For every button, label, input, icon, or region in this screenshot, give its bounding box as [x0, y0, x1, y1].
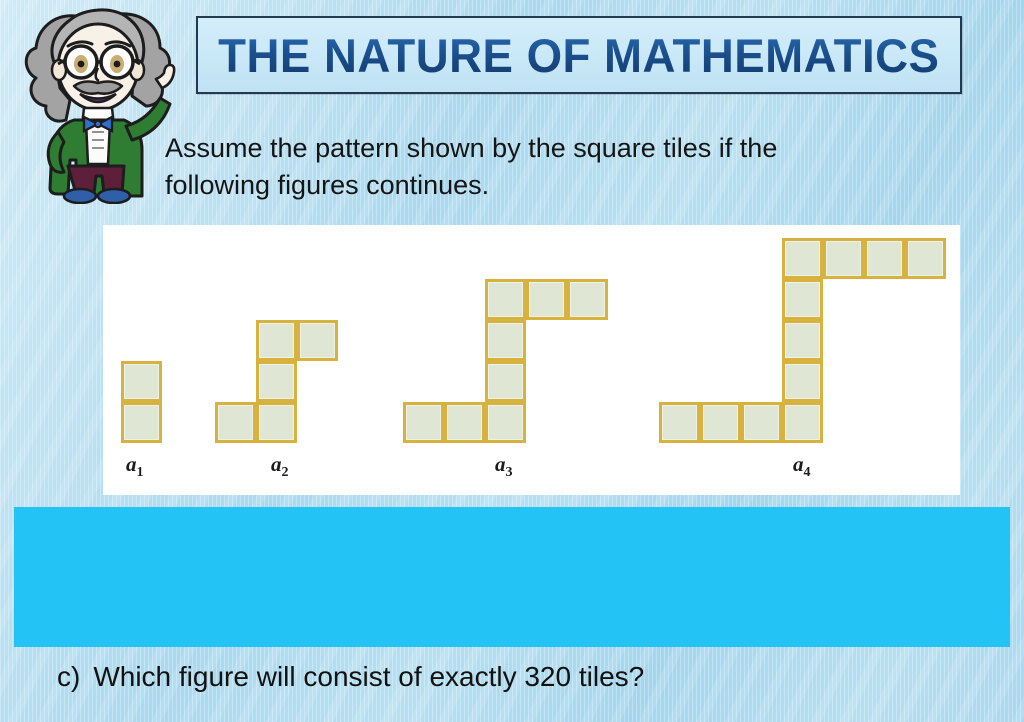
tile	[121, 402, 162, 443]
title-box: THE NATURE OF MATHEMATICS	[196, 16, 962, 94]
tile	[905, 238, 946, 279]
question-c: c)Which figure will consist of exactly 3…	[57, 661, 644, 693]
tile	[659, 402, 700, 443]
tile	[256, 361, 297, 402]
tile	[444, 402, 485, 443]
figure-a3	[403, 279, 608, 443]
tile	[256, 402, 297, 443]
tile	[782, 402, 823, 443]
figure-label-letter: a	[793, 452, 804, 476]
question-letter: c)	[57, 661, 80, 692]
figure-label-letter: a	[495, 452, 506, 476]
figure-label-index: 2	[282, 465, 289, 480]
tile	[782, 279, 823, 320]
figure-label-index: 1	[137, 465, 144, 480]
figure-label-a4: a4	[793, 452, 811, 481]
prompt-line-1: Assume the pattern shown by the square t…	[165, 130, 985, 167]
tile	[782, 238, 823, 279]
prompt-text: Assume the pattern shown by the square t…	[165, 130, 985, 205]
page-title: THE NATURE OF MATHEMATICS	[218, 32, 939, 79]
figure-a1	[121, 361, 162, 443]
tile	[485, 279, 526, 320]
tile	[485, 402, 526, 443]
tile	[700, 402, 741, 443]
tile	[782, 361, 823, 402]
tile	[823, 238, 864, 279]
slide-canvas: THE NATURE OF MATHEMATICS Assume the pat…	[0, 0, 1024, 722]
tile	[256, 320, 297, 361]
figure-label-a3: a3	[495, 452, 513, 481]
tile	[485, 320, 526, 361]
figure-label-letter: a	[126, 452, 137, 476]
figure-label-letter: a	[271, 452, 282, 476]
tile	[864, 238, 905, 279]
einstein-cartoon-icon	[14, 4, 182, 204]
tile	[485, 361, 526, 402]
tile	[782, 320, 823, 361]
figure-label-a1: a1	[126, 452, 144, 481]
figure-label-index: 4	[804, 465, 811, 480]
tile	[567, 279, 608, 320]
tile	[741, 402, 782, 443]
tile	[215, 402, 256, 443]
prompt-line-2: following figures continues.	[165, 167, 985, 204]
tile	[526, 279, 567, 320]
figure-a2	[215, 320, 338, 443]
tile	[121, 361, 162, 402]
figure-a4	[659, 238, 946, 443]
figure-panel: a1 a2 a3	[103, 225, 960, 495]
figure-label-index: 3	[506, 465, 513, 480]
answer-box[interactable]	[14, 507, 1010, 647]
question-text: Which figure will consist of exactly 320…	[93, 661, 644, 692]
tile	[403, 402, 444, 443]
figure-label-a2: a2	[271, 452, 289, 481]
tile	[297, 320, 338, 361]
